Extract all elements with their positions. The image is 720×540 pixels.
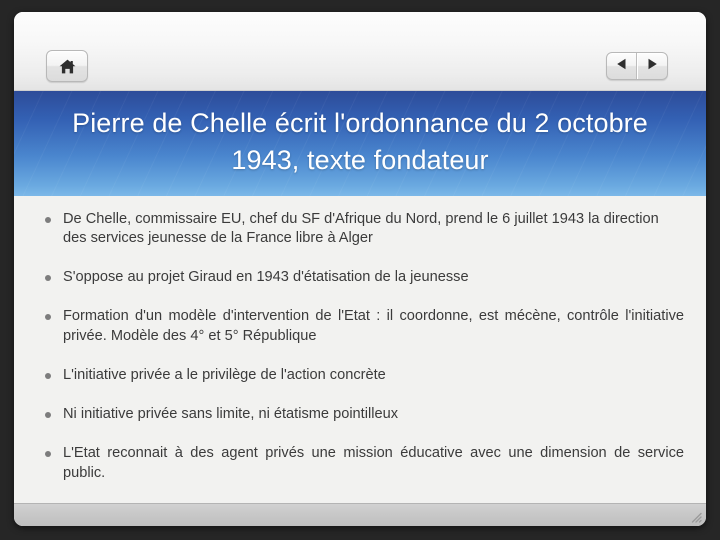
- next-slide-button[interactable]: [637, 53, 667, 79]
- slide-title: Pierre de Chelle écrit l'ordonnance du 2…: [14, 91, 706, 196]
- bullet-list: De Chelle, commissaire EU, chef du SF d'…: [36, 210, 684, 485]
- slide-body: De Chelle, commissaire EU, chef du SF d'…: [14, 196, 706, 504]
- list-item-text: L'initiative privée a le privilège de l'…: [63, 367, 386, 383]
- list-item: Formation d'un modèle d'intervention de …: [36, 307, 684, 347]
- list-item-text: L'Etat reconnait à des agent privés une …: [63, 445, 684, 481]
- desktop-backdrop: Pierre de Chelle écrit l'ordonnance du 2…: [0, 0, 720, 540]
- previous-slide-button[interactable]: [607, 53, 637, 79]
- triangle-right-icon: [647, 57, 658, 75]
- list-item: S'oppose au projet Giraud en 1943 d'état…: [36, 268, 684, 288]
- list-item-text: Ni initiative privée sans limite, ni éta…: [63, 406, 398, 422]
- home-button[interactable]: [46, 50, 88, 82]
- triangle-left-icon: [616, 57, 627, 75]
- list-item: De Chelle, commissaire EU, chef du SF d'…: [36, 210, 684, 250]
- list-item: Ni initiative privée sans limite, ni éta…: [36, 405, 684, 425]
- bullet-marker-icon: [45, 451, 51, 457]
- list-item: L'Etat reconnait à des agent privés une …: [36, 444, 684, 484]
- presentation-window: Pierre de Chelle écrit l'ordonnance du 2…: [14, 12, 706, 526]
- slide: Pierre de Chelle écrit l'ordonnance du 2…: [14, 91, 706, 503]
- bullet-marker-icon: [45, 412, 51, 418]
- bullet-marker-icon: [45, 217, 51, 223]
- toolbar: [14, 12, 706, 91]
- bullet-marker-icon: [45, 314, 51, 320]
- bullet-marker-icon: [45, 275, 51, 281]
- list-item: L'initiative privée a le privilège de l'…: [36, 366, 684, 386]
- navigation-button-group: [606, 52, 668, 80]
- home-icon: [59, 59, 76, 74]
- status-bar: [14, 503, 706, 526]
- list-item-text: Formation d'un modèle d'intervention de …: [63, 308, 684, 344]
- resize-grip-icon[interactable]: [689, 510, 702, 523]
- list-item-text: De Chelle, commissaire EU, chef du SF d'…: [63, 211, 659, 247]
- bullet-marker-icon: [45, 373, 51, 379]
- list-item-text: S'oppose au projet Giraud en 1943 d'état…: [63, 269, 469, 285]
